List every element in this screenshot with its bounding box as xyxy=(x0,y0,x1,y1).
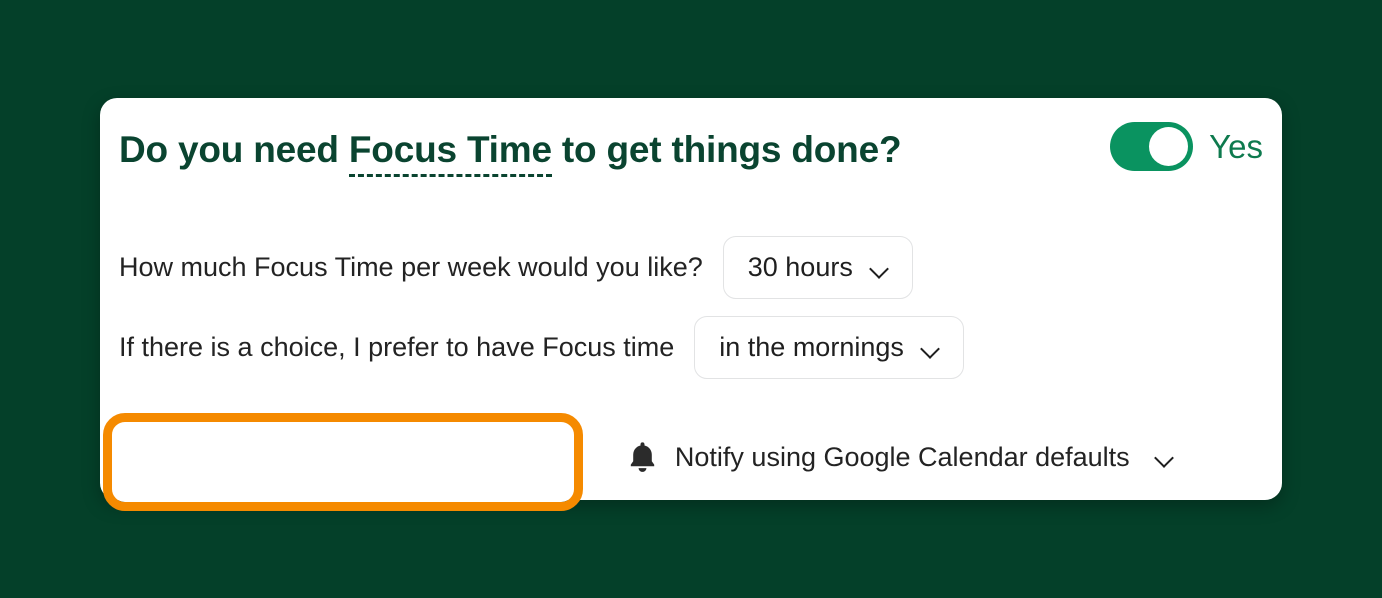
focus-hours-row: How much Focus Time per week would you l… xyxy=(119,236,913,299)
chevron-down-icon xyxy=(870,262,890,274)
title-focus-time-term: Focus Time xyxy=(349,129,552,177)
toggle-state-label: Yes xyxy=(1209,130,1263,163)
bell-icon xyxy=(629,441,656,473)
focus-hours-label: How much Focus Time per week would you l… xyxy=(119,254,703,281)
focus-hours-dropdown[interactable]: 30 hours xyxy=(723,236,913,299)
focus-hours-value: 30 hours xyxy=(748,254,853,281)
card-header: Do you need Focus Time to get things don… xyxy=(119,118,1263,180)
focus-time-toggle-group[interactable]: Yes xyxy=(1110,122,1263,171)
notify-defaults-label: Notify using Google Calendar defaults xyxy=(675,444,1130,471)
page-title: Do you need Focus Time to get things don… xyxy=(119,131,901,168)
highlight-backdrop xyxy=(112,422,574,502)
chevron-down-icon xyxy=(921,342,941,354)
title-suffix: to get things done? xyxy=(552,129,902,170)
focus-preference-dropdown[interactable]: in the mornings xyxy=(694,316,964,379)
toggle-knob xyxy=(1149,127,1188,166)
focus-preference-value: in the mornings xyxy=(719,334,904,361)
toggle-on-icon[interactable] xyxy=(1110,122,1193,171)
focus-preference-label: If there is a choice, I prefer to have F… xyxy=(119,334,674,361)
title-prefix: Do you need xyxy=(119,129,349,170)
chevron-down-icon xyxy=(1155,451,1175,463)
focus-preference-row: If there is a choice, I prefer to have F… xyxy=(119,316,964,379)
notify-defaults-option[interactable]: Notify using Google Calendar defaults xyxy=(629,438,1175,476)
